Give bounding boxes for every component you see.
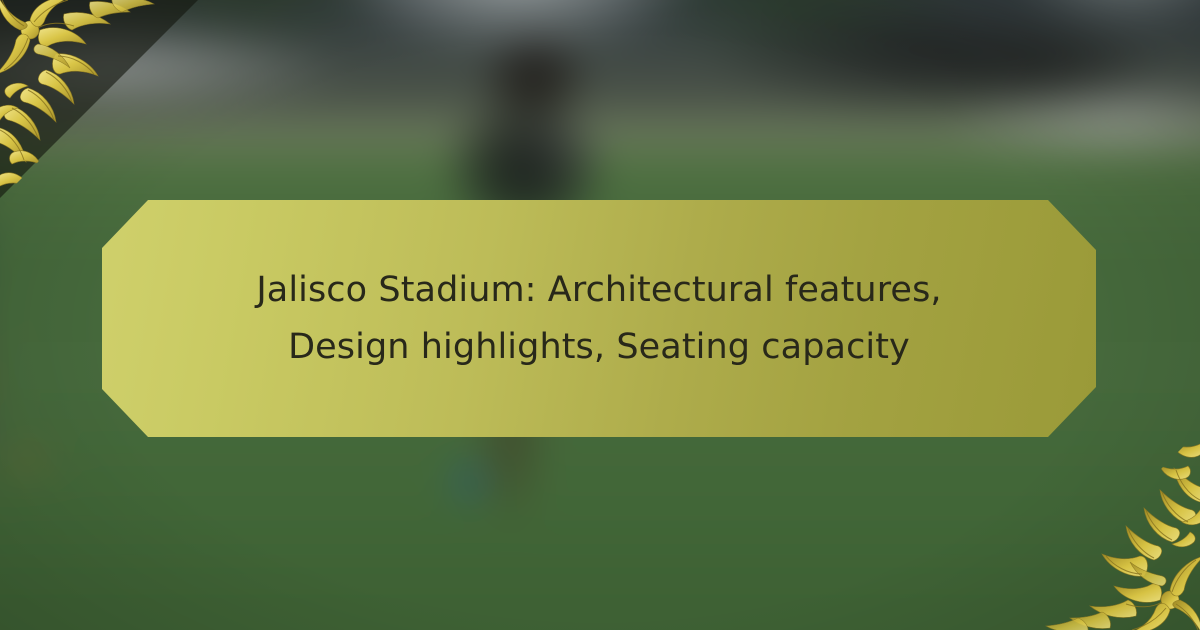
share-banner-canvas: Jalisco Stadium: Architectural features,… xyxy=(0,0,1200,630)
page-title: Jalisco Stadium: Architectural features,… xyxy=(219,262,979,375)
title-banner-plaque: Jalisco Stadium: Architectural features,… xyxy=(102,200,1096,437)
